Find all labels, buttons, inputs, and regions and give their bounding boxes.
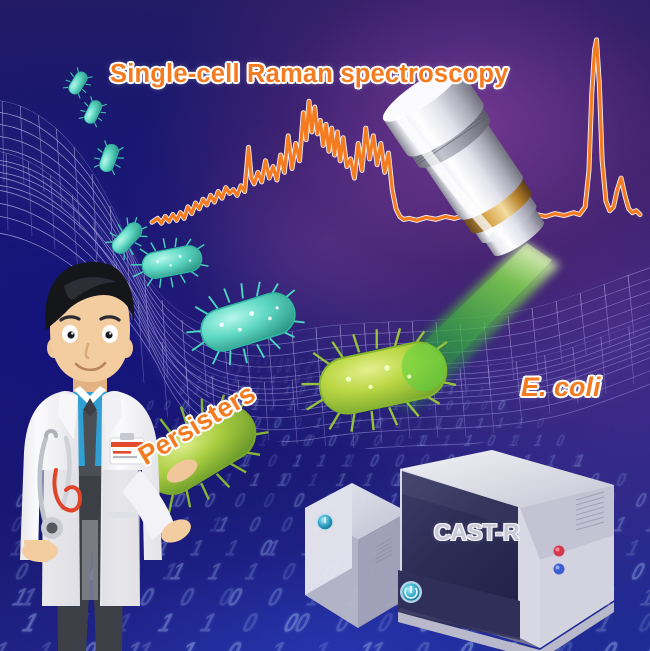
instrument-label: CAST-R (434, 519, 520, 546)
scientist-hand-foreground (0, 0, 650, 651)
page-title: Single-cell Raman spectroscopy (110, 60, 509, 89)
ecoli-label: E. coli (521, 372, 601, 403)
figure-canvas: 0000000111101110111100000001111000000011… (0, 0, 650, 651)
